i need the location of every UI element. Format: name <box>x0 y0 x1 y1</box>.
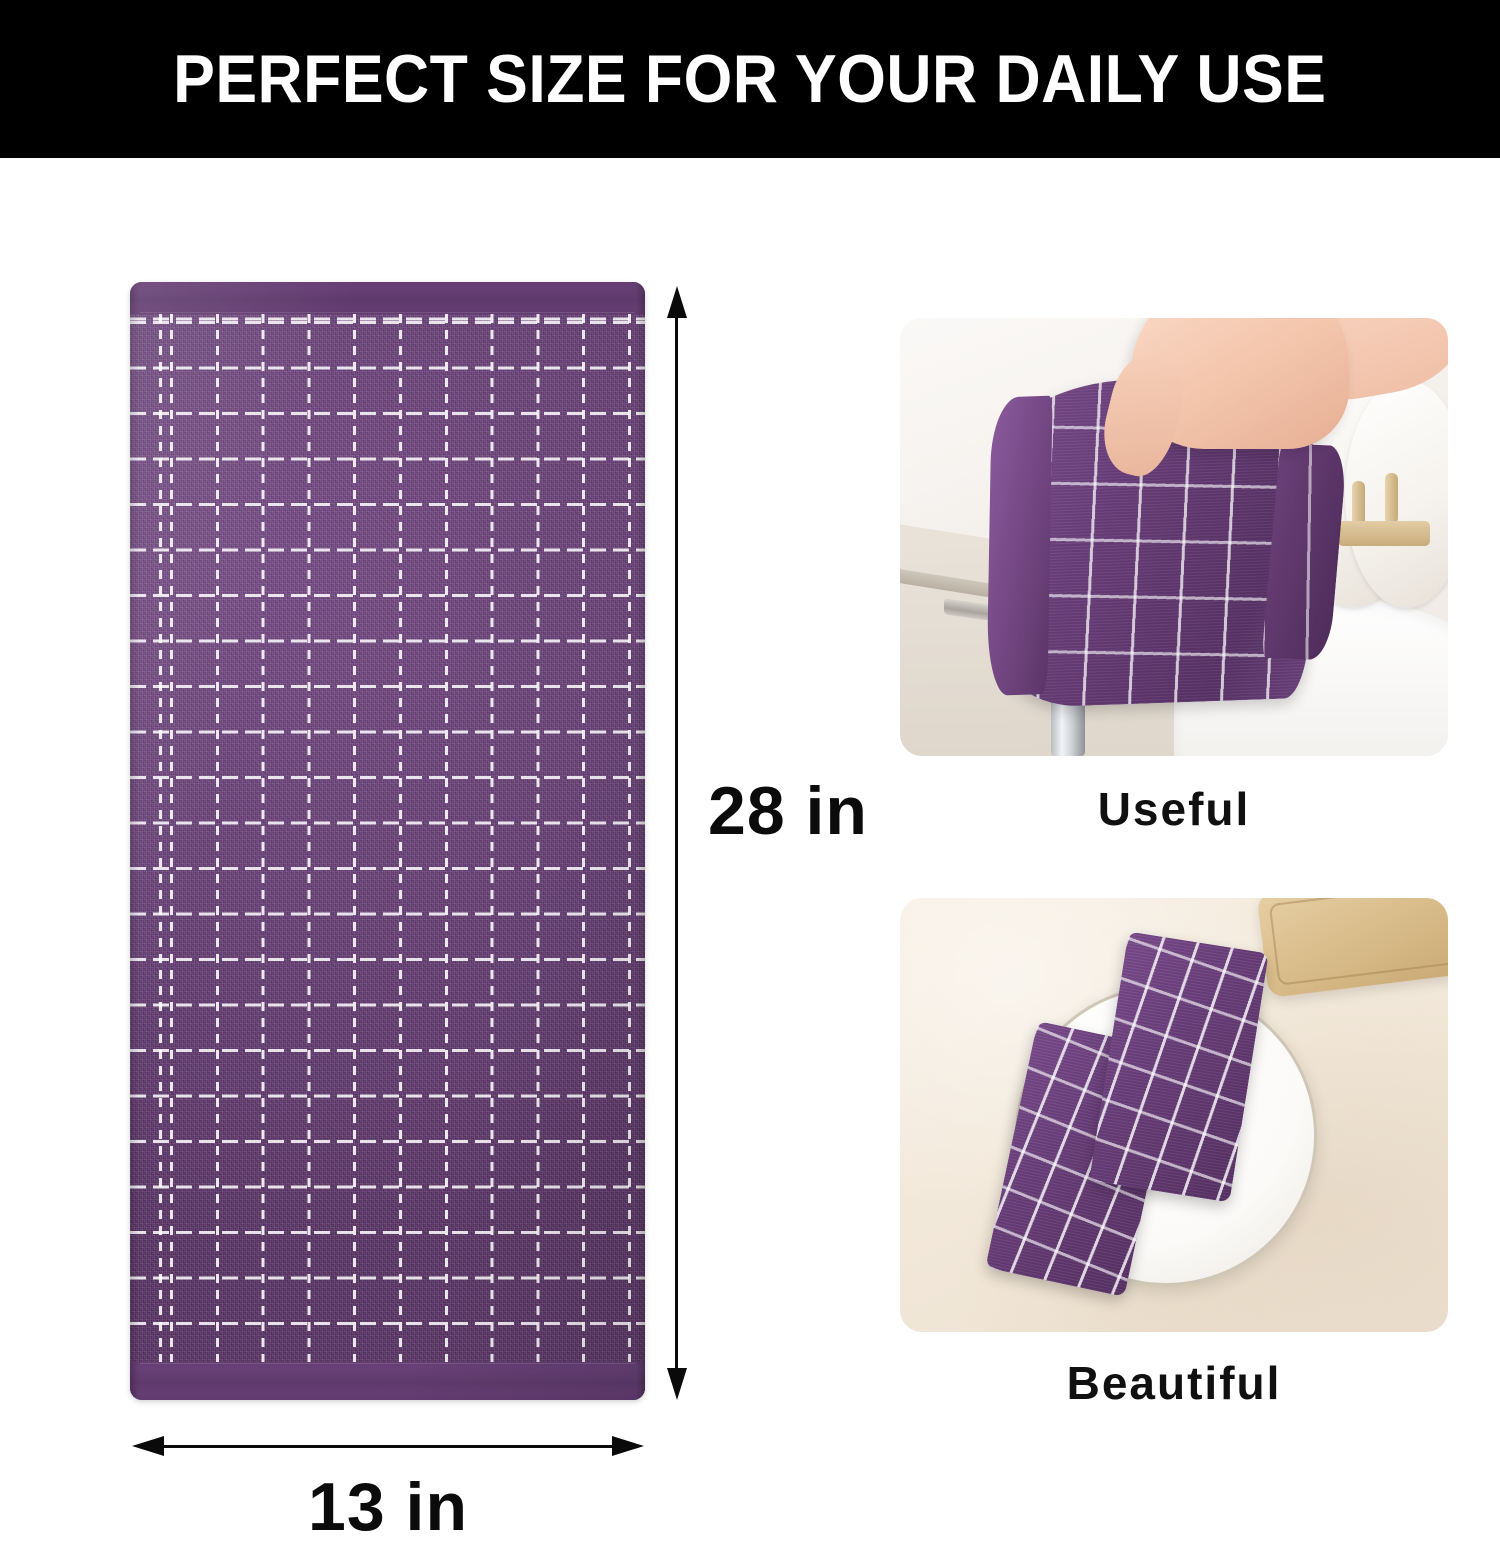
towel-body <box>130 282 645 1400</box>
width-dimension-arrow <box>132 1430 644 1462</box>
countertop-photo <box>900 898 1448 1332</box>
towel-selvedge-right <box>636 282 645 1400</box>
towel-hem-stitch <box>140 1363 634 1364</box>
towel-selvedge-left <box>130 282 139 1400</box>
banner-title: PERFECT SIZE FOR YOUR DAILY USE <box>173 40 1326 118</box>
towel-illustration <box>130 282 645 1400</box>
dimension-line-horizontal <box>140 1445 636 1448</box>
towel-grid-horizontal-threads <box>130 314 645 1364</box>
towel-hem-stitch <box>140 312 634 313</box>
arrow-head-right-icon <box>612 1436 644 1456</box>
photo-caption-useful: Useful <box>900 782 1448 836</box>
towel-left-fold <box>986 396 1053 697</box>
arrow-head-down-icon <box>667 1368 687 1400</box>
dish-rack-peg <box>1385 473 1398 525</box>
product-dimension-panel: 28 in 13 in <box>0 158 880 1486</box>
header-banner: PERFECT SIZE FOR YOUR DAILY USE <box>0 0 1500 158</box>
height-dimension-arrow <box>660 286 692 1400</box>
dimension-line-vertical <box>675 294 678 1392</box>
towel-hem-bottom <box>130 1362 645 1400</box>
dish-rack-base <box>1338 521 1430 545</box>
cutting-board-groove <box>1268 898 1448 986</box>
photo-caption-beautiful: Beautiful <box>900 1356 1448 1410</box>
towel-hem-top <box>130 282 645 314</box>
width-dimension-label: 13 in <box>132 1468 644 1546</box>
height-dimension-label: 28 in <box>708 772 868 850</box>
photo-card-useful <box>900 318 1448 756</box>
photo-card-beautiful <box>900 898 1448 1332</box>
kitchen-sink-photo <box>900 318 1448 756</box>
